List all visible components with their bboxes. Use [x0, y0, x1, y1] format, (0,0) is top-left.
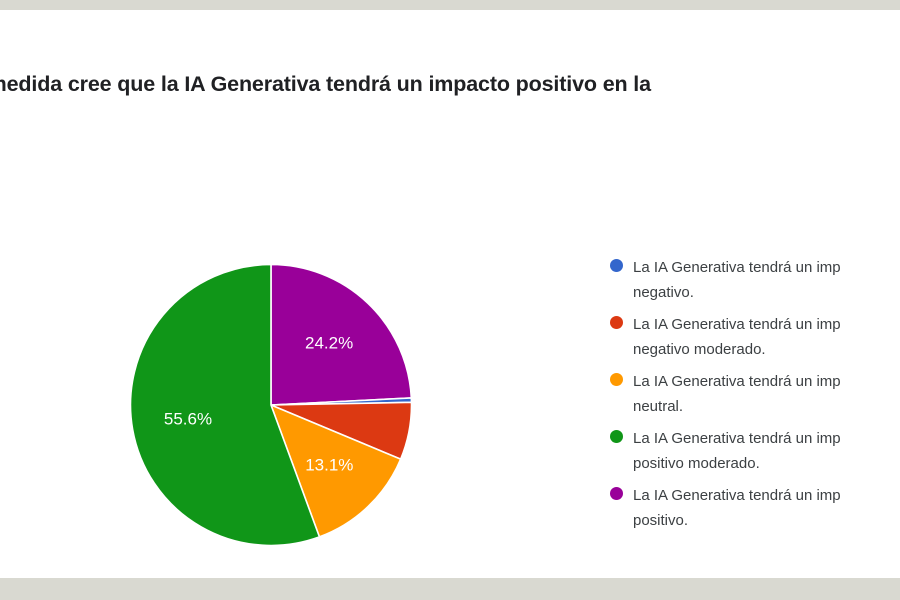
pie-slice-group[interactable]: [131, 265, 412, 546]
legend-label-line2: positivo moderado.: [633, 451, 841, 476]
legend-swatch-icon: [610, 316, 623, 329]
pie-slice-label: 13.1%: [305, 455, 353, 474]
pie-slice-label: 24.2%: [305, 333, 353, 352]
survey-result-card: é medida cree que la IA Generativa tendr…: [0, 10, 900, 578]
legend-item-neutral[interactable]: La IA Generativa tendrá un imp neutral.: [610, 369, 900, 419]
legend-label-line2: positivo.: [633, 508, 841, 533]
window-bottom-band: [0, 578, 900, 600]
response-count: s: [0, 186, 370, 202]
legend-label-line2: neutral.: [633, 394, 841, 419]
legend-item-label: La IA Generativa tendrá un imp negativo.: [633, 255, 841, 305]
legend-label-line1: La IA Generativa tendrá un imp: [633, 487, 841, 504]
legend-swatch-icon: [610, 373, 623, 386]
chart-legend: La IA Generativa tendrá un imp negativo.…: [610, 255, 900, 540]
pie-svg: 24.2%13.1%55.6%: [130, 264, 412, 546]
legend-item-negative-moderate[interactable]: La IA Generativa tendrá un imp negativo …: [610, 312, 900, 362]
legend-item-label: La IA Generativa tendrá un imp neutral.: [633, 369, 841, 419]
legend-label-line2: negativo.: [633, 280, 841, 305]
pie-graphic: 24.2%13.1%55.6%: [130, 264, 412, 546]
question-title-line1: é medida cree que la IA Generativa tendr…: [0, 72, 651, 96]
legend-item-label: La IA Generativa tendrá un imp positivo …: [633, 426, 841, 476]
screenshot-root: é medida cree que la IA Generativa tendr…: [0, 0, 900, 600]
legend-label-line1: La IA Generativa tendrá un imp: [633, 373, 841, 390]
legend-item-negative[interactable]: La IA Generativa tendrá un imp negativo.: [610, 255, 900, 305]
legend-label-line1: La IA Generativa tendrá un imp: [633, 430, 841, 447]
legend-swatch-icon: [610, 259, 623, 272]
legend-label-line1: La IA Generativa tendrá un imp: [633, 316, 841, 333]
pie-slice-label: 55.6%: [164, 409, 212, 428]
pie-chart: 24.2%13.1%55.6% La IA Generativa tendrá …: [0, 230, 900, 578]
legend-swatch-icon: [610, 430, 623, 443]
legend-item-positive-moderate[interactable]: La IA Generativa tendrá un imp positivo …: [610, 426, 900, 476]
legend-item-label: La IA Generativa tendrá un imp negativo …: [633, 312, 841, 362]
legend-item-positive[interactable]: La IA Generativa tendrá un imp positivo.: [610, 483, 900, 533]
question-title-line2: ?: [0, 100, 800, 132]
legend-label-line1: La IA Generativa tendrá un imp: [633, 259, 841, 276]
page-title: é medida cree que la IA Generativa tendr…: [0, 68, 800, 132]
legend-swatch-icon: [610, 487, 623, 500]
legend-item-label: La IA Generativa tendrá un imp positivo.: [633, 483, 841, 533]
window-top-band: [0, 0, 900, 10]
legend-label-line2: negativo moderado.: [633, 337, 841, 362]
